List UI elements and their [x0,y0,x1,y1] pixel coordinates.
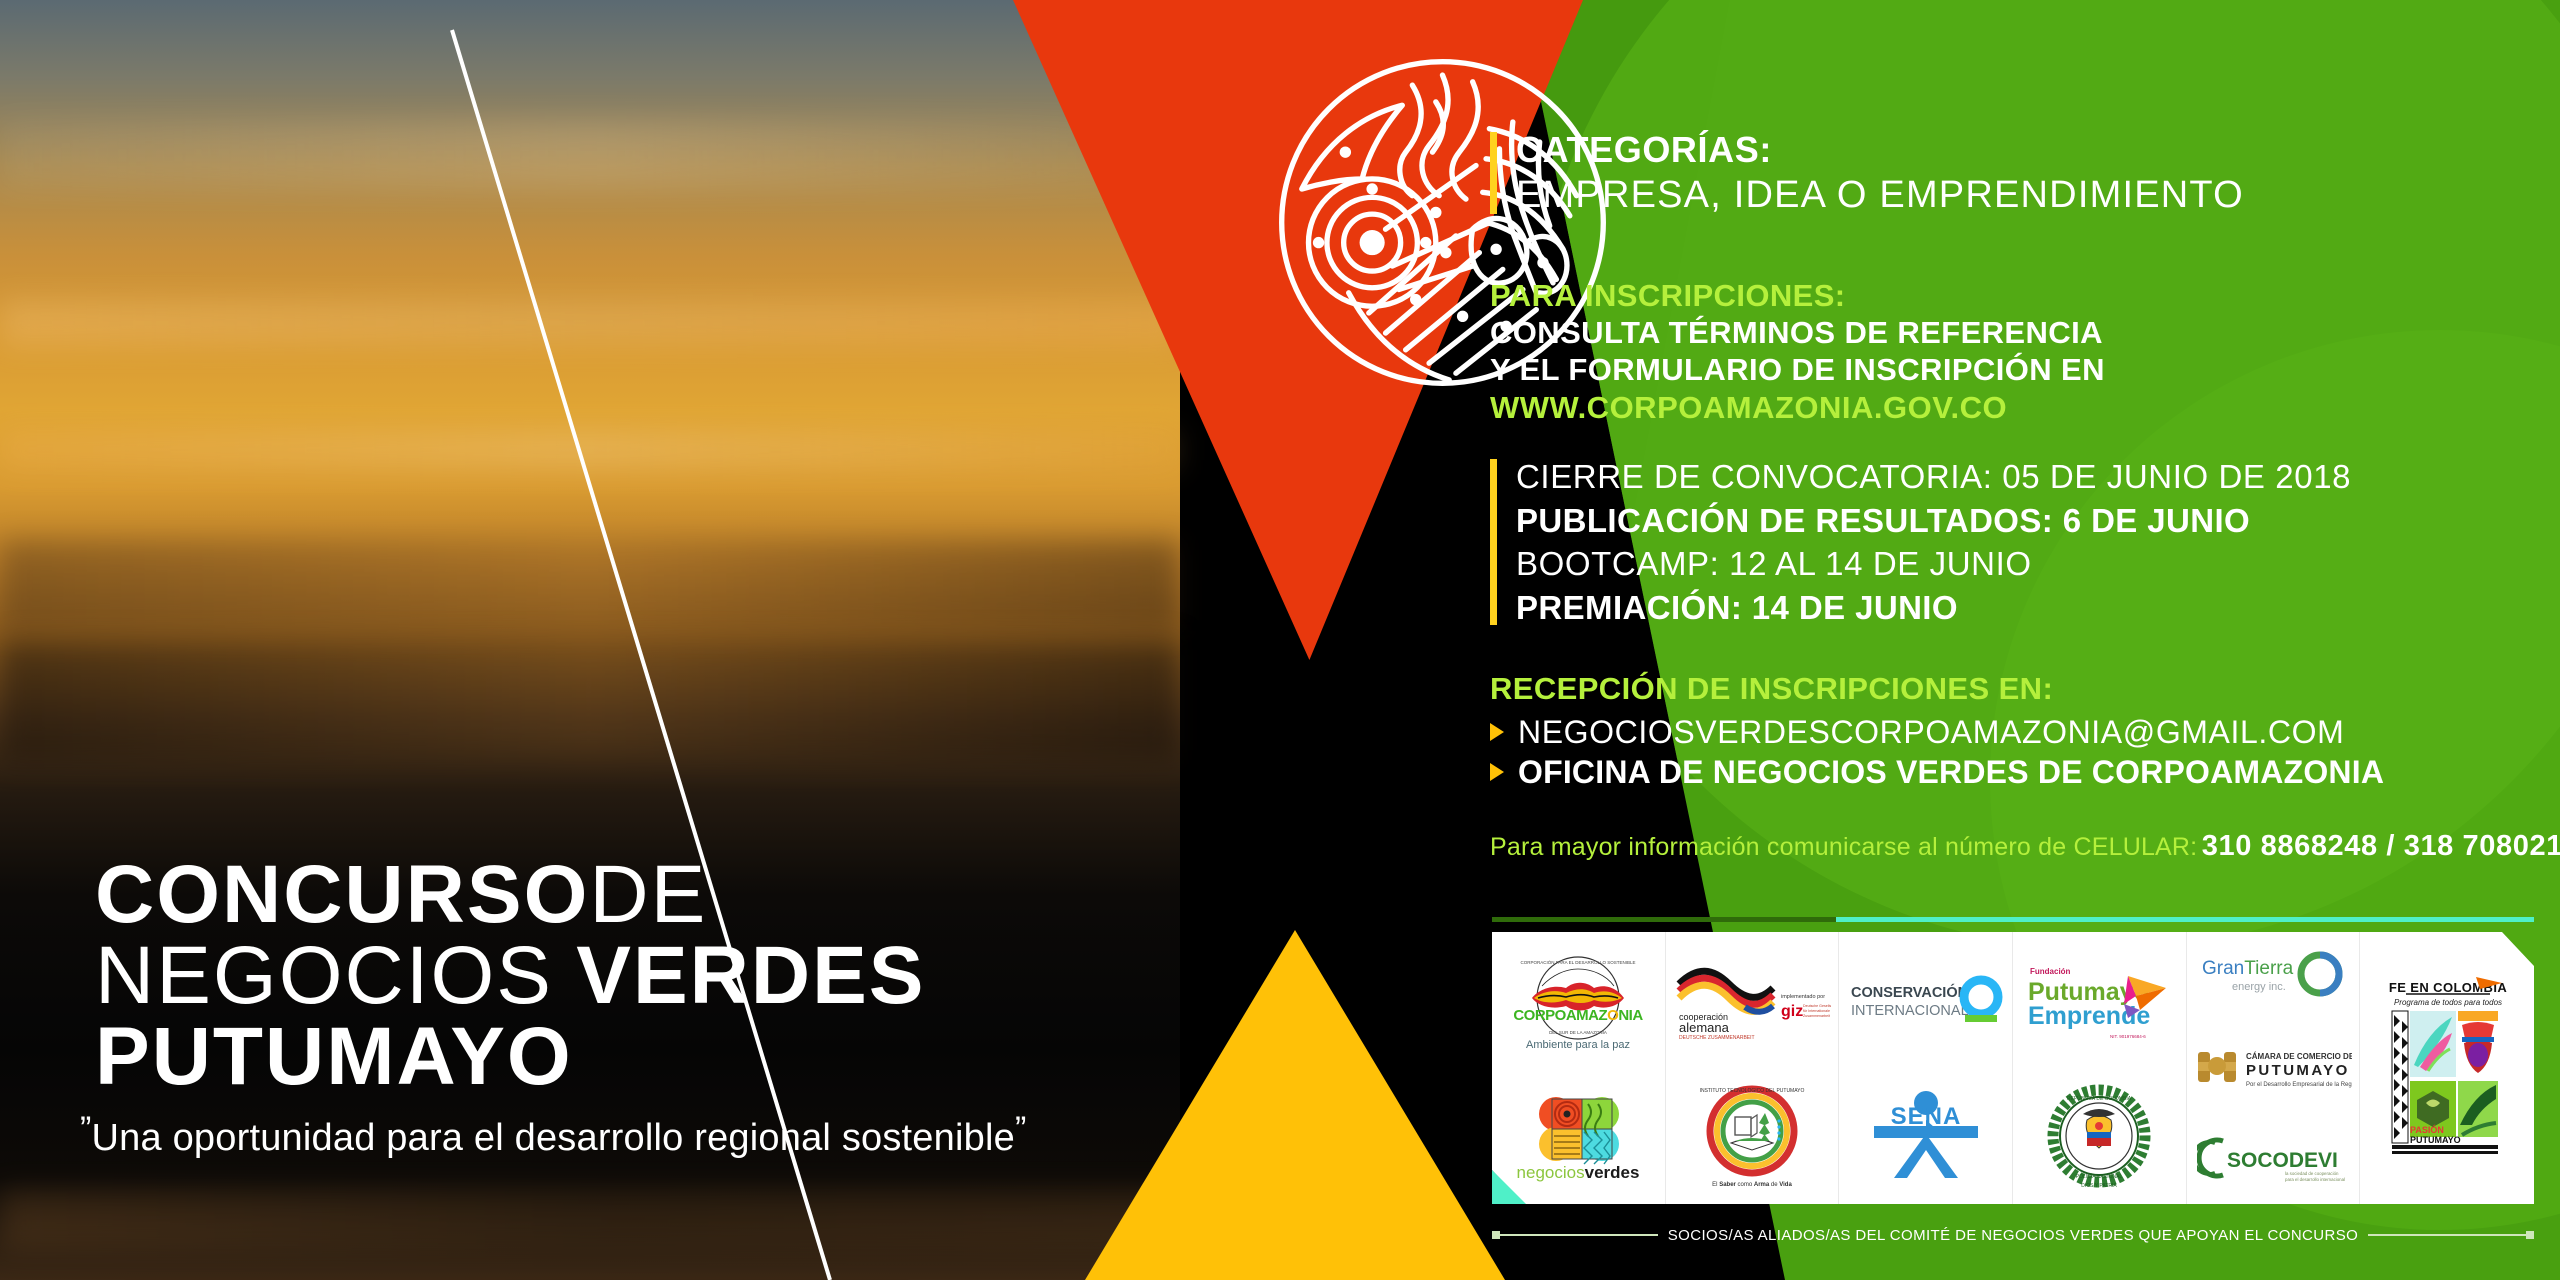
categorias-value: EMPRESA, IDEA O EMPRENDIMIENTO [1516,172,2530,218]
headline-verdes: VERDES [576,930,925,1021]
conservacion-internacional-logo: CONSERVACIÓN INTERNACIONAL [1847,965,2005,1035]
sena-logo: SENA [1864,1086,1988,1186]
fecha-bootcamp: BOOTCAMP: 12 AL 14 DE JUNIO [1516,542,2530,586]
quote-open: ” [80,1110,92,1148]
camara-comercio-putumayo-logo: CÁMARA DE COMERCIO DEL PUTUMAYO Por el D… [2194,1044,2352,1092]
svg-text:INTERNACIONAL: INTERNACIONAL [1851,1003,1969,1019]
cloud-band [0,300,1180,346]
inscripciones-label: PARA INSCRIPCIONES: [1490,277,2530,314]
poster-headline: CONCURSODE NEGOCIOS VERDES PUTUMAYO [95,856,1095,1095]
cooperacion-alemana-giz-logo: cooperación alemana DEUTSCHE ZUSAMMENARB… [1673,958,1831,1042]
sponsor-sena: SENA [1839,1068,2012,1204]
svg-text:CORPOAMAZONIA: CORPOAMAZONIA [1514,1007,1644,1024]
svg-text:CONSERVACIÓN: CONSERVACIÓN [1851,983,1968,1001]
sponsor-negocios-verdes: negociosverdes [1492,1068,1665,1204]
section-telefono: Para mayor información comunicarse al nú… [1490,830,2550,863]
svg-text:Deutsche Gesellschaft: Deutsche Gesellschaft [1803,1004,1831,1008]
sponsor-conservacion-internacional: CONSERVACIÓN INTERNACIONAL [1839,932,2012,1068]
svg-text:Zusammenarbeit (GIZ) GmbH: Zusammenarbeit (GIZ) GmbH [1803,1014,1831,1018]
svg-text:DEUTSCHE ZUSAMMENARBEIT: DEUTSCHE ZUSAMMENARBEIT [1679,1035,1755,1041]
sponsor-corpoamazonia: CORPOAMAZONIA DEL SUR DE LA AMAZONIA COR… [1492,932,1665,1068]
sponsor-column: CORPOAMAZONIA DEL SUR DE LA AMAZONIA COR… [1492,932,1666,1204]
recepcion-email-row[interactable]: NEGOCIOSVERDESCORPOAMAZONIA@GMAIL.COM [1490,712,2550,752]
svg-text:Fundación: Fundación [2030,967,2071,976]
svg-text:Ambiente para la paz: Ambiente para la paz [1526,1039,1630,1051]
svg-text:giz: giz [1781,1003,1803,1020]
recepcion-email: NEGOCIOSVERDESCORPOAMAZONIA@GMAIL.COM [1518,712,2344,752]
fe-en-colombia-logo: FE EN COLOMBIA Programa de todos para to… [2384,975,2510,1161]
sponsor-column: CONSERVACIÓN INTERNACIONAL SENA [1839,932,2013,1204]
svg-text:alemana: alemana [1679,1020,1730,1035]
svg-text:POLICÍA NACIONAL: POLICÍA NACIONAL [2076,1173,2123,1180]
sponsor-instituto-tecnologico-putumayo: INSTITUTO TECNOLOGICO DEL PUTUMAYO El Sa… [1666,1068,1839,1204]
svg-text:SOCODEVI: SOCODEVI [2227,1149,2338,1172]
arrow-right-icon [1490,723,1504,741]
sponsor-column: Fundación Putumayo Emprende NIT. 9019766… [2013,932,2187,1204]
negocios-verdes-logo: negociosverdes [1508,1086,1648,1186]
headline-de: DE [589,849,707,940]
sponsor-column: cooperación alemana DEUTSCHE ZUSAMMENARB… [1666,932,1840,1204]
svg-text:Emprende: Emprende [2028,1002,2150,1030]
svg-text:INSTITUTO TECNOLOGICO DEL PUTU: INSTITUTO TECNOLOGICO DEL PUTUMAYO [1700,1088,1805,1094]
footer-caption-text: SOCIOS/AS ALIADOS/AS DEL COMITÉ DE NEGOC… [1668,1227,2358,1244]
corpoamazonia-logo: CORPOAMAZONIA DEL SUR DE LA AMAZONIA COR… [1508,948,1648,1052]
footer-rule-left [1492,1234,1658,1236]
arrow-right-icon [1490,763,1504,781]
inscripciones-url[interactable]: WWW.CORPOAMAZONIA.GOV.CO [1490,389,2530,426]
section-inscripciones: PARA INSCRIPCIONES: CONSULTA TÉRMINOS DE… [1490,277,2530,426]
section-categorias: CATEGORÍAS: EMPRESA, IDEA O EMPRENDIMIEN… [1490,128,2530,218]
quote-close: ” [1015,1110,1027,1148]
policia-nacional-colombia-logo: REPÚBLICA DE COLOMBIA POLICÍA NACIONAL D… [2043,1080,2155,1192]
cloud-band [0,640,1180,760]
categorias-label: CATEGORÍAS: [1516,128,2530,172]
inscripciones-line1: CONSULTA TÉRMINOS DE REFERENCIA [1490,314,2530,351]
svg-text:PUTUMAYO: PUTUMAYO [2410,1135,2461,1145]
fecha-publicacion: PUBLICACIÓN DE RESULTADOS: 6 DE JUNIO [1516,499,2530,543]
divider-cyan-segment [1836,917,2534,922]
svg-text:NIT. 901976684-6: NIT. 901976684-6 [2110,1034,2146,1039]
poster-tagline: ”Una oportunidad para el desarrollo regi… [80,1110,1026,1160]
divider-dark-segment [1492,917,1836,922]
svg-text:implementado por: implementado por [1781,994,1825,1000]
svg-text:PASIÓN: PASIÓN [2410,1124,2444,1135]
footer-rule-right [2368,1234,2534,1236]
sponsor-fe-en-colombia: FE EN COLOMBIA Programa de todos para to… [2360,932,2534,1204]
sponsors-panel: CORPOAMAZONIA DEL SUR DE LA AMAZONIA COR… [1492,932,2534,1204]
inscripciones-line2: Y EL FORMULARIO DE INSCRIPCIÓN EN [1490,351,2530,388]
svg-text:Por el Desarrollo Empresarial: Por el Desarrollo Empresarial de la Regi… [2246,1082,2352,1088]
instituto-tecnologico-putumayo-logo: INSTITUTO TECNOLOGICO DEL PUTUMAYO El Sa… [1691,1081,1813,1191]
svg-text:negociosverdes: negociosverdes [1517,1163,1640,1182]
telefono-prefix: Para mayor información comunicarse al nú… [1490,833,2197,861]
headline-concurso: CONCURSO [95,849,589,940]
telefono-numeros: 310 8868248 / 318 7080211 [2202,830,2560,862]
cloud-band [0,430,1180,470]
svg-text:CORPORACIÓN PARA EL DESARROLLO: CORPORACIÓN PARA EL DESARROLLO SOSTENIBL… [1521,959,1636,965]
svg-text:Programa de todos para todos: Programa de todos para todos [2394,998,2502,1007]
fecha-premiacion: PREMIACIÓN: 14 DE JUNIO [1516,586,2530,630]
svg-text:para el desarrollo internacion: para el desarrollo internacional [2285,1177,2345,1182]
fundacion-putumayo-emprende-logo: Fundación Putumayo Emprende NIT. 9019766… [2024,958,2174,1042]
svg-text:SENA: SENA [1890,1103,1961,1130]
foreground-field-band [0,1190,1180,1250]
sponsor-cooperacion-alemana-giz: cooperación alemana DEUTSCHE ZUSAMMENARB… [1666,932,1839,1068]
svg-text:CÁMARA DE COMERCIO DEL: CÁMARA DE COMERCIO DEL [2246,1052,2352,1061]
svg-text:GranTierra: GranTierra [2202,958,2294,979]
cloud-band [0,120,1180,190]
recepcion-office-row: OFICINA DE NEGOCIOS VERDES DE CORPOAMAZO… [1490,752,2550,792]
headline-negocios: NEGOCIOS [95,930,553,1021]
sponsor-putumayo-emprende: Fundación Putumayo Emprende NIT. 9019766… [2013,932,2186,1068]
svg-text:REPÚBLICA DE COLOMBIA: REPÚBLICA DE COLOMBIA [2067,1095,2132,1102]
cloud-band [0,540,1180,630]
recepcion-office: OFICINA DE NEGOCIOS VERDES DE CORPOAMAZO… [1518,752,2384,792]
section-fechas: CIERRE DE CONVOCATORIA: 05 DE JUNIO DE 2… [1490,455,2530,629]
svg-text:DIOS Y PATRIA: DIOS Y PATRIA [2082,1183,2118,1189]
svg-text:la sociedad de cooperación: la sociedad de cooperación [2285,1171,2339,1176]
svg-text:für Internationale: für Internationale [1803,1009,1830,1013]
sponsor-camara-comercio-putumayo: CÁMARA DE COMERCIO DEL PUTUMAYO Por el D… [2187,1023,2360,1114]
sponsors-grid: CORPOAMAZONIA DEL SUR DE LA AMAZONIA COR… [1492,932,2534,1204]
sponsors-divider [1492,917,2534,922]
section-recepcion: RECEPCIÓN DE INSCRIPCIONES EN: NEGOCIOSV… [1490,670,2550,792]
socodevi-logo: SOCODEVI la sociedad de cooperación para… [2197,1135,2349,1183]
headline-putumayo: PUTUMAYO [95,1011,573,1102]
sponsor-socodevi: SOCODEVI la sociedad de cooperación para… [2187,1113,2360,1204]
sponsor-gran-tierra-energy: GranTierra energy inc. [2187,932,2360,1023]
svg-text:DEL SUR DE LA AMAZONIA: DEL SUR DE LA AMAZONIA [1549,1030,1607,1035]
sponsor-column: FE EN COLOMBIA Programa de todos para to… [2360,932,2534,1204]
tagline-text: Una oportunidad para el desarrollo regio… [92,1117,1015,1159]
sponsors-footer-caption: SOCIOS/AS ALIADOS/AS DEL COMITÉ DE NEGOC… [1492,1222,2534,1248]
poster-canvas: CONCURSODE NEGOCIOS VERDES PUTUMAYO ”Una… [0,0,2560,1280]
svg-text:energy inc.: energy inc. [2232,981,2286,993]
svg-text:El Saber como Arma de Vida: El Saber como Arma de Vida [1712,1182,1792,1188]
sponsor-column: GranTierra energy inc. CÁMARA DE COMERCI… [2187,932,2361,1204]
svg-text:PUTUMAYO: PUTUMAYO [2246,1062,2350,1079]
fecha-cierre: CIERRE DE CONVOCATORIA: 05 DE JUNIO DE 2… [1516,455,2530,499]
sponsor-policia-nacional: REPÚBLICA DE COLOMBIA POLICÍA NACIONAL D… [2013,1068,2186,1204]
gran-tierra-energy-logo: GranTierra energy inc. [2198,946,2348,1008]
recepcion-label: RECEPCIÓN DE INSCRIPCIONES EN: [1490,670,2550,708]
